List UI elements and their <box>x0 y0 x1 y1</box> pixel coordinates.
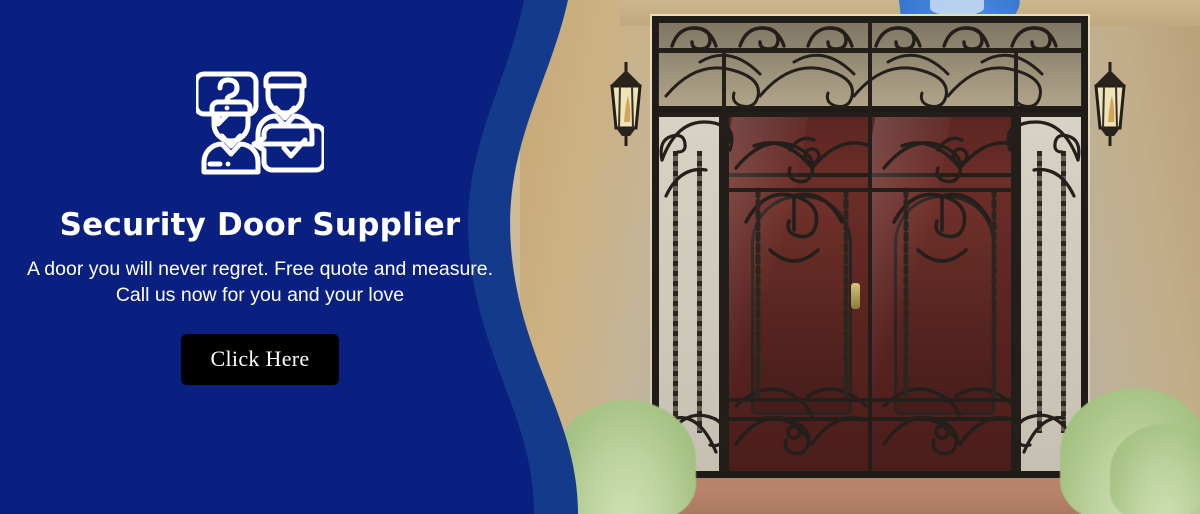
banner-subtitle: A door you will never regret. Free quote… <box>27 256 493 308</box>
consultation-icon <box>196 60 324 182</box>
transom-rail <box>658 48 1082 53</box>
subtitle-line-1: A door you will never regret. Free quote… <box>27 258 493 280</box>
banner-content: Security Door Supplier A door you will n… <box>0 0 520 514</box>
hero-banner: Security Door Supplier A door you will n… <box>0 0 1200 514</box>
page-title: Security Door Supplier <box>60 208 461 242</box>
wall-lantern-left <box>604 62 648 148</box>
subtitle-line-2: Call us now for you and your love <box>116 284 404 306</box>
person-icon <box>204 102 258 172</box>
iron-transom <box>652 16 1088 112</box>
wall-lantern-right <box>1088 62 1132 148</box>
click-here-button[interactable]: Click Here <box>181 334 340 385</box>
